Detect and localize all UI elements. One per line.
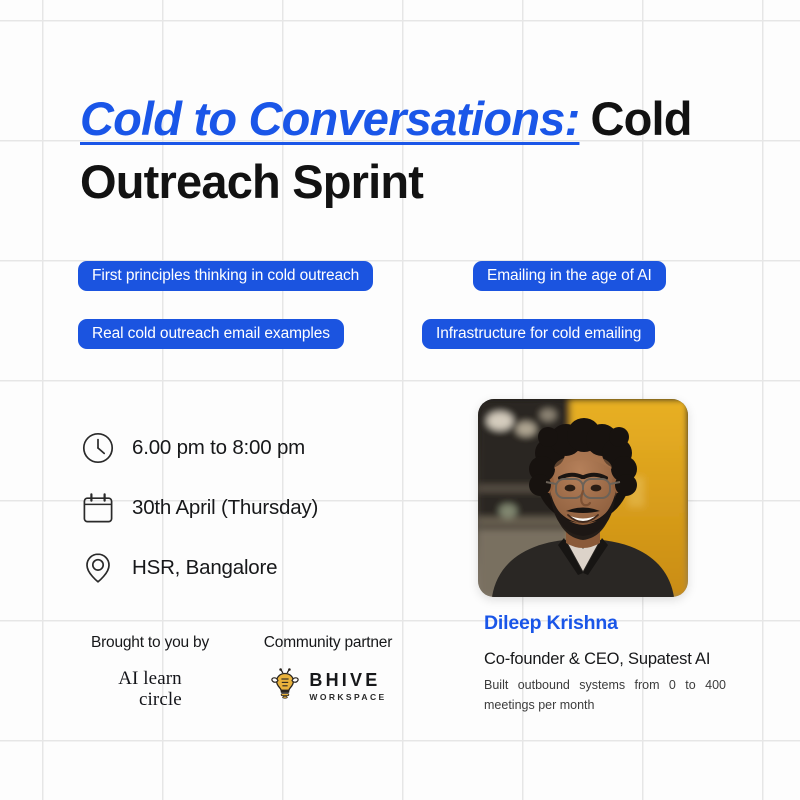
event-details: 6.00 pm to 8:00 pm 30th April (Thursday): [78, 418, 318, 598]
speaker-bio: Built outbound systems from 0 to 400 mee…: [484, 675, 726, 716]
speaker-info: Dileep Krishna Co-founder & CEO, Supates…: [484, 612, 744, 716]
topic-pill-first-principles[interactable]: First principles thinking in cold outrea…: [78, 261, 373, 291]
title-line-2: Outreach Sprint: [80, 151, 740, 214]
bhive-workspace-logo: BHIVE WORKSPACE: [240, 668, 416, 705]
location-pin-icon: [78, 548, 118, 588]
speaker-photo: [478, 399, 688, 597]
calendar-icon: [78, 488, 118, 528]
detail-time-text: 6.00 pm to 8:00 pm: [132, 436, 305, 460]
partner-caption: Community partner: [240, 634, 416, 652]
detail-row-location: HSR, Bangalore: [78, 538, 318, 598]
event-poster: Cold to Conversations:Cold Outreach Spri…: [0, 0, 800, 800]
ai-learn-circle-logo: AI learn circle: [62, 668, 238, 711]
detail-row-time: 6.00 pm to 8:00 pm: [78, 418, 318, 478]
title-emphasis: Cold to Conversations:: [80, 92, 581, 145]
detail-date-text: 30th April (Thursday): [132, 496, 318, 520]
ai-learn-circle-line2: circle: [118, 689, 182, 710]
ai-learn-circle-line1: AI learn: [118, 668, 182, 689]
bhive-name: BHIVE: [309, 671, 386, 689]
page-title: Cold to Conversations:Cold Outreach Spri…: [80, 88, 740, 213]
topic-pill-infrastructure[interactable]: Infrastructure for cold emailing: [422, 319, 655, 349]
bhive-bulb-bee-icon: [269, 668, 301, 705]
partner-brought-to-you-by: Brought to you by AI learn circle: [62, 634, 238, 711]
speaker-role: Co-founder & CEO, Supatest AI: [484, 649, 744, 670]
detail-location-text: HSR, Bangalore: [132, 556, 277, 580]
partner-community: Community partner: [240, 634, 416, 705]
speaker-name: Dileep Krishna: [484, 612, 744, 635]
detail-row-date: 30th April (Thursday): [78, 478, 318, 538]
topic-pill-emailing-age-of-ai[interactable]: Emailing in the age of AI: [473, 261, 666, 291]
clock-icon: [78, 428, 118, 468]
title-rest: Cold: [581, 92, 691, 145]
bhive-subtitle: WORKSPACE: [309, 693, 386, 702]
title-line-1: Cold to Conversations:Cold: [80, 88, 740, 151]
partner-caption: Brought to you by: [62, 634, 238, 652]
topic-pill-email-examples[interactable]: Real cold outreach email examples: [78, 319, 344, 349]
